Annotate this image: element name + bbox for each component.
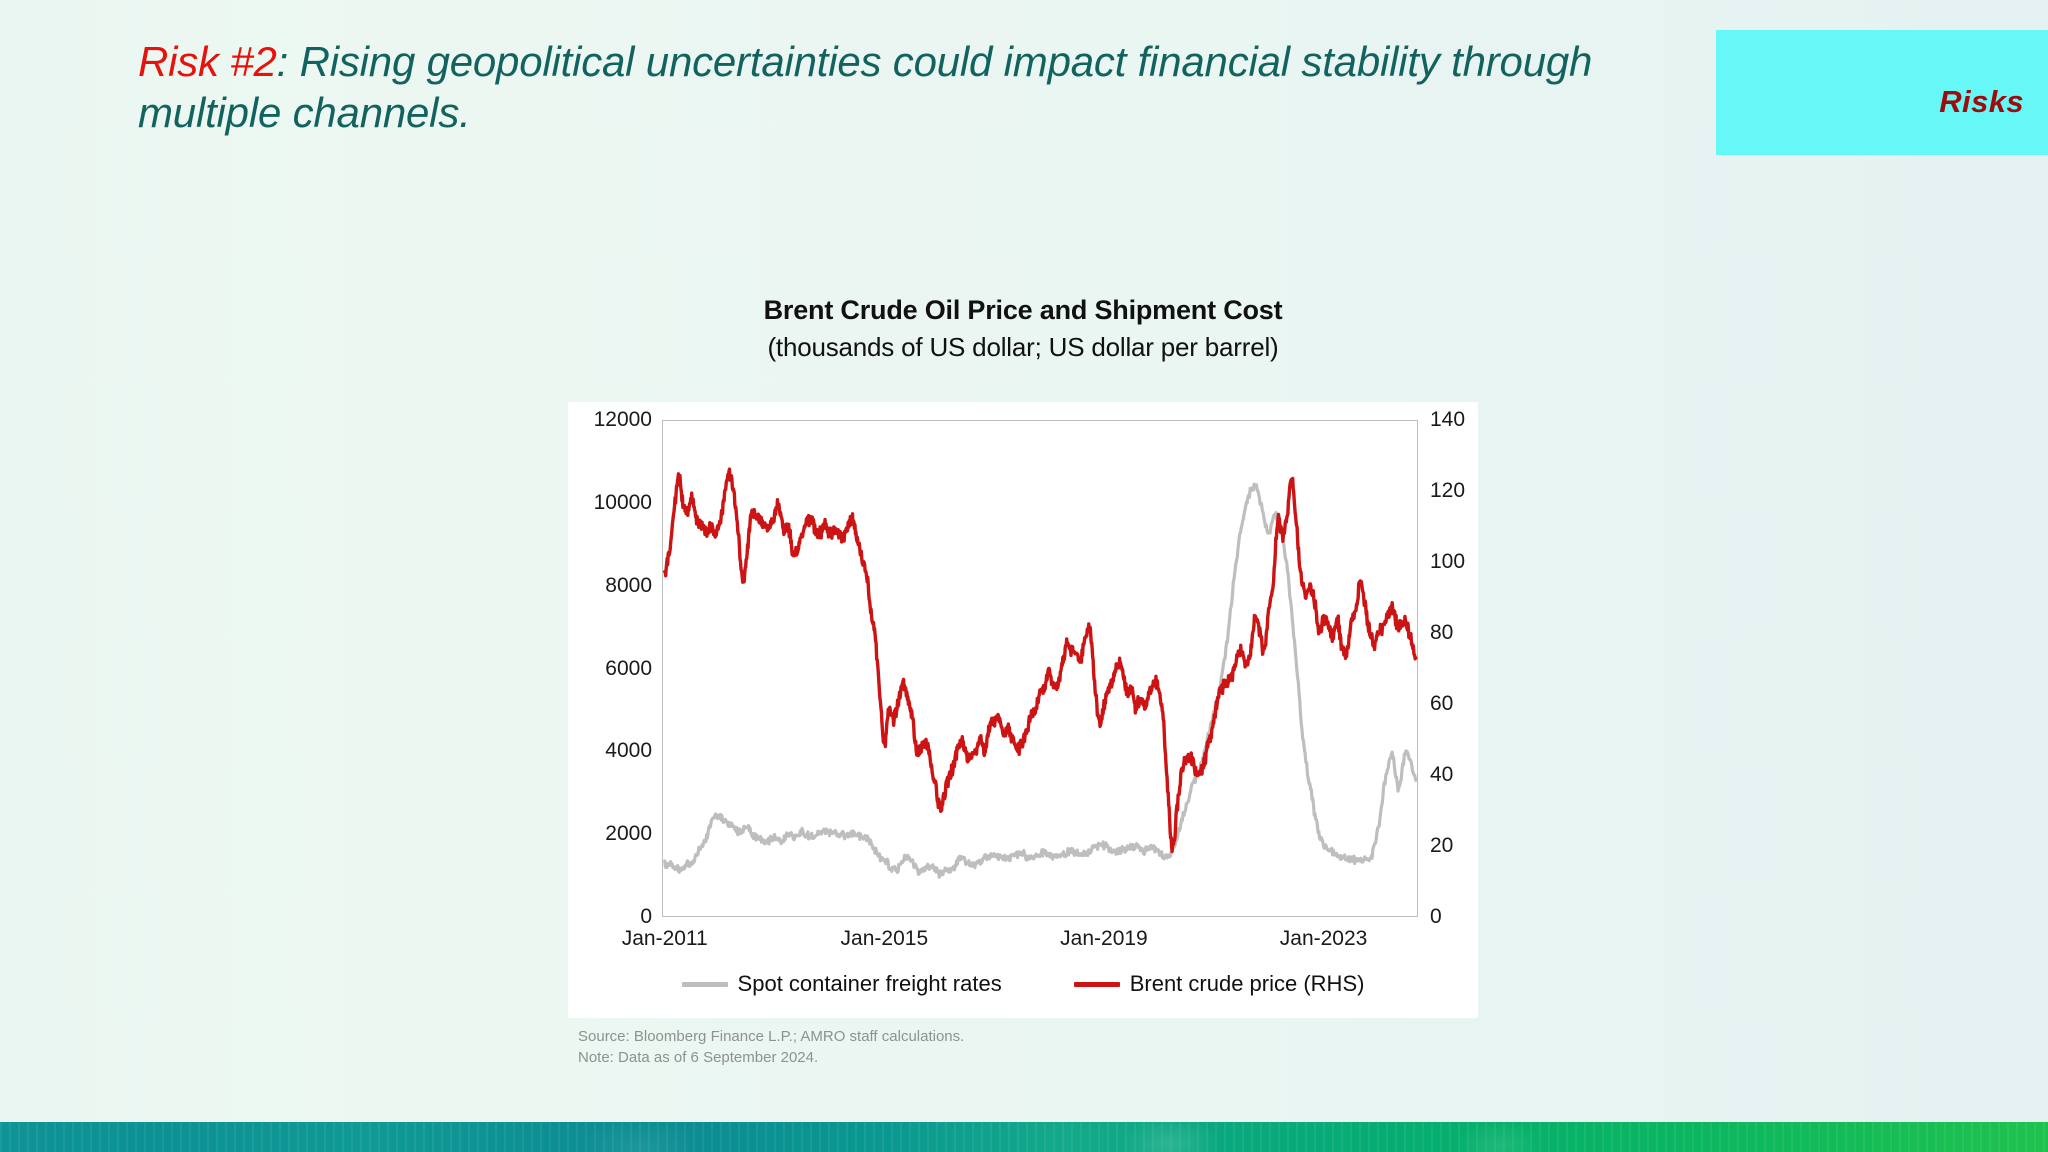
y-tick-right-5: 100 (1418, 550, 1465, 574)
y-tick-left-3: 6000 (605, 657, 662, 681)
legend-label-1: Spot container freight rates (738, 971, 1002, 997)
x-tick-3: Jan-2023 (1280, 927, 1368, 951)
source-line: Source: Bloomberg Finance L.P.; AMRO sta… (578, 1027, 964, 1048)
series-line-1 (665, 484, 1416, 877)
plot-area: 020004000600080001000012000 020406080100… (662, 420, 1418, 917)
chart-svg (662, 420, 1418, 917)
y-tick-right-6: 120 (1418, 479, 1465, 503)
chart-subtitle: (thousands of US dollar; US dollar per b… (568, 332, 1478, 363)
y-tick-right-3: 60 (1418, 692, 1453, 716)
y-tick-left-1: 2000 (605, 822, 662, 846)
note-line: Note: Data as of 6 September 2024. (578, 1048, 964, 1069)
y-tick-left-0: 0 (640, 905, 662, 929)
y-tick-left-4: 8000 (605, 574, 662, 598)
y-tick-left-2: 4000 (605, 739, 662, 763)
y-tick-right-7: 140 (1418, 408, 1465, 432)
legend-item-1[interactable]: Spot container freight rates (682, 971, 1002, 997)
series-line-2 (665, 469, 1416, 851)
y-tick-right-1: 20 (1418, 834, 1453, 858)
y-tick-right-4: 80 (1418, 621, 1453, 645)
legend-label-2: Brent crude price (RHS) (1130, 971, 1365, 997)
y-tick-right-0: 0 (1418, 905, 1442, 929)
y-tick-right-2: 40 (1418, 763, 1453, 787)
slide-canvas: Risk #2: Rising geopolitical uncertainti… (0, 0, 2048, 1152)
risks-badge-label: Risks (1939, 84, 2024, 120)
chart-card: 020004000600080001000012000 020406080100… (568, 402, 1478, 1018)
x-tick-2: Jan-2019 (1060, 927, 1148, 951)
legend-swatch-2 (1074, 982, 1120, 987)
y-tick-left-5: 10000 (594, 491, 662, 515)
background-band-left (0, 0, 342, 1122)
chart-heading: Brent Crude Oil Price and Shipment Cost … (568, 295, 1478, 363)
x-tick-1: Jan-2015 (841, 927, 929, 951)
chart-legend: Spot container freight ratesBrent crude … (568, 964, 1478, 1004)
chart-title: Brent Crude Oil Price and Shipment Cost (568, 295, 1478, 326)
slide-title: Risk #2: Rising geopolitical uncertainti… (138, 36, 1618, 138)
slide-title-risk-label: Risk #2 (138, 38, 277, 85)
source-note: Source: Bloomberg Finance L.P.; AMRO sta… (578, 1027, 964, 1068)
slide-title-body: : Rising geopolitical uncertainties coul… (138, 38, 1592, 136)
y-tick-left-6: 12000 (594, 408, 662, 432)
x-tick-0: Jan-2011 (622, 927, 708, 951)
legend-item-2[interactable]: Brent crude price (RHS) (1074, 971, 1365, 997)
risks-badge: Risks (1716, 30, 2048, 155)
legend-swatch-1 (682, 982, 728, 987)
footer-gradient-texture (0, 1122, 2048, 1152)
